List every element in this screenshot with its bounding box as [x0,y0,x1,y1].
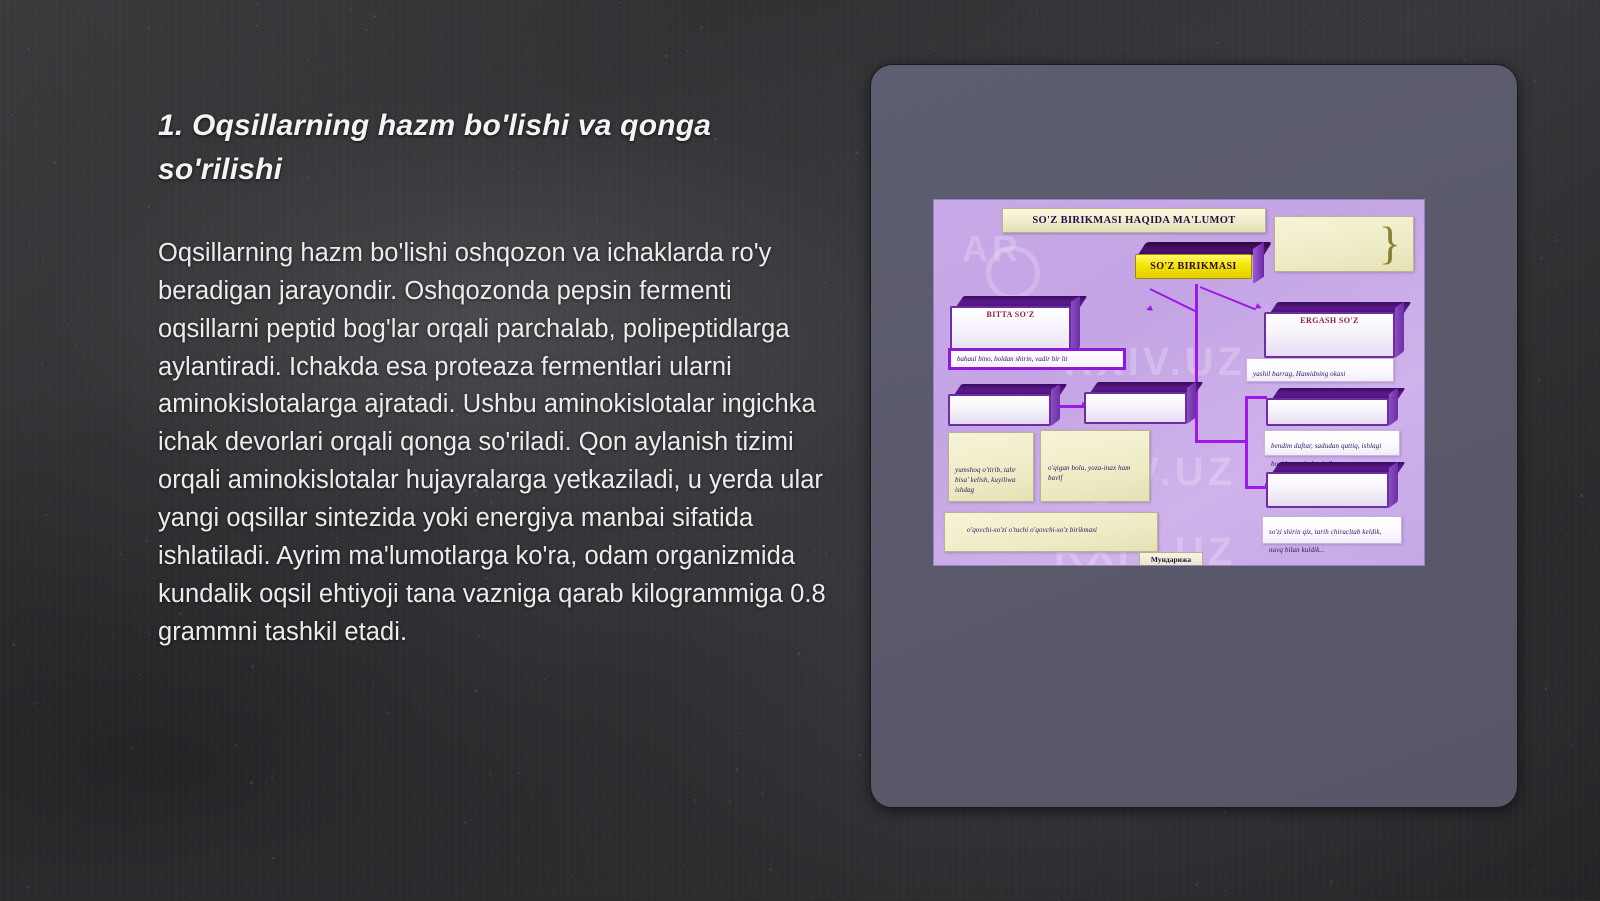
background-speck [130,747,132,749]
background-speck [374,815,375,816]
connector-right-riser [1245,396,1248,442]
background-speck [1556,239,1559,242]
node-right-face: ERGASH SO'Z [1264,312,1395,358]
background-speck [1589,582,1590,583]
background-speck [148,206,150,208]
background-speck [355,79,356,80]
background-speck [42,258,44,260]
background-speck [12,114,14,116]
page-title: 1. Oqsillarning hazm bo'lishi va qonga s… [158,104,830,191]
background-speck [718,867,719,868]
background-speck [75,345,77,347]
background-speck [1538,378,1541,381]
connector-center-to-left [1150,288,1198,313]
background-speck [387,712,389,714]
background-speck [366,29,368,31]
cream-mid: o'qigan bola, yoza-inax ham bavlf [1040,430,1150,502]
connector-right-drop [1245,440,1248,488]
background-speck [694,799,697,802]
background-speck [113,636,115,638]
background-speck [726,846,727,847]
background-speck [29,242,30,243]
note-right-1-text: yashil barrag, Hamidning okasi [1253,370,1345,378]
node-left[interactable]: BITTA SO'Z [950,296,1080,354]
background-speck [737,732,740,735]
background-speck [856,151,859,154]
connector-right-top-stub [1245,396,1267,399]
background-speck [1310,49,1311,50]
background-speck [438,708,439,709]
background-speck [1463,853,1465,855]
background-speck [488,70,490,72]
background-speck [1533,870,1535,872]
background-speck [368,23,369,24]
background-speck [306,58,308,60]
background-speck [36,122,38,124]
background-speck [70,142,71,143]
background-speck [1566,535,1568,537]
background-speck [437,773,439,775]
background-speck [633,33,634,34]
background-speck [835,499,836,500]
cream-bottom-text: o'qovchi-so'zi o'tuchi o'qovchi-so'z bir… [967,525,1149,535]
background-speck [26,886,29,889]
background-speck [798,652,801,655]
node-center-face: SO'Z BIRIKMASI [1135,254,1252,279]
background-speck [808,897,809,898]
background-speck [855,158,857,160]
node-center-side [1253,242,1264,284]
background-speck [518,772,521,775]
background-speck [1424,60,1425,61]
background-speck [1,826,2,827]
background-speck [1564,668,1566,670]
background-speck [1540,257,1543,260]
background-speck [1544,247,1546,249]
background-speck [27,48,30,51]
node-right-mid-face [1266,398,1389,426]
background-speck [114,561,116,563]
node-left-label: BITTA SO'Z [986,311,1034,320]
background-speck [545,838,546,839]
background-speck [273,845,274,846]
background-speck [145,540,147,542]
background-speck [152,403,154,405]
text-column: 1. Oqsillarning hazm bo'lishi va qonga s… [158,104,830,651]
background-speck [107,627,109,629]
background-speck [379,52,380,53]
background-speck [1330,880,1333,883]
background-speck [135,796,136,797]
background-speck [729,800,731,802]
node-right-bottom-face [1266,472,1389,508]
background-speck [1556,365,1557,366]
background-speck [1363,18,1365,20]
background-speck [68,149,69,150]
background-speck [33,702,36,705]
background-speck [1534,80,1536,82]
violet-example-text: bahaul bino, boldan shirin, vadir bir li… [957,355,1067,363]
node-right-bottom[interactable] [1266,462,1398,508]
background-speck [67,324,70,327]
background-speck [1527,371,1528,372]
cream-left: yumshoq o'tirib, tahr bisa' kelish, kuyi… [948,432,1034,502]
background-speck [758,807,760,809]
background-speck [235,744,238,747]
background-speck [148,27,150,29]
node-right-mid-side [1389,387,1398,426]
background-speck [68,458,69,459]
watermark-ring-1 [986,246,1040,300]
note-right-2: bendim daftar, sadudan qattiq, ishlagi b… [1264,430,1400,456]
background-speck [1569,277,1570,278]
background-speck [1223,811,1225,813]
diagram-banner: SO'Z BIRIKMASI HAQIDA MA'LUMOT [1002,208,1266,233]
background-speck [686,50,689,53]
background-speck [53,161,56,164]
arrow-right [1255,303,1263,311]
background-speck [1468,837,1470,839]
background-speck [1568,5,1570,7]
background-speck [625,871,626,872]
background-speck [511,26,513,28]
node-left-face: BITTA SO'Z [950,306,1071,354]
background-speck [271,776,273,778]
background-speck [101,165,102,166]
background-speck [927,47,929,49]
cream-mid-text: o'qigan bola, yoza-inax ham bavlf [1048,463,1143,483]
background-speck [365,29,366,30]
background-speck [272,857,274,859]
background-speck [761,792,763,794]
background-speck [1141,20,1143,22]
background-speck [543,678,546,681]
background-speck [842,319,844,321]
background-speck [683,864,685,866]
background-speck [256,25,258,27]
small-box-2-side [1187,381,1196,424]
background-speck [257,3,259,5]
background-speck [53,5,55,7]
connector-center-horizontal [1195,440,1247,443]
background-speck [438,810,439,811]
note-right-1: yashil barrag, Hamidning okasi [1246,358,1394,382]
node-right-bottom-side [1389,461,1398,508]
small-box-1-side [1051,383,1060,426]
cream-bottom: o'qovchi-so'zi o'tuchi o'qovchi-so'z bir… [944,512,1158,552]
connector-right-bottom-stub [1245,486,1267,489]
arrow-left [1145,305,1153,313]
background-speck [619,1,622,4]
background-speck [251,665,254,668]
node-right-side [1395,301,1404,358]
background-speck [830,297,831,298]
background-speck [148,633,151,636]
background-speck [665,55,668,58]
note-right-3-text: so'zi shirin qiz, tarih chiracltab keldi… [1269,528,1381,554]
background-speck [724,48,725,49]
image-card[interactable]: AR RXIV.UZ RXIV.UZ RXIV.UZ SO'Z BIRIKMAS… [870,64,1518,808]
node-right-label: ERGASH SO'Z [1300,317,1358,326]
connector-small-boxes [1060,405,1084,408]
background-speck [285,811,287,813]
background-speck [357,58,358,59]
background-speck [284,727,286,729]
background-speck [349,8,351,10]
background-speck [1224,891,1226,893]
caption-chip[interactable]: Мундарижа [1139,552,1203,566]
background-speck [858,754,861,757]
background-speck [1580,494,1583,497]
background-speck [1465,59,1467,61]
background-speck [642,43,643,44]
background-speck [474,689,477,692]
background-speck [94,383,96,385]
background-speck [736,768,739,771]
background-speck [841,444,842,445]
background-speck [1304,24,1305,25]
background-speck [1545,687,1547,689]
background-speck [74,207,76,209]
background-speck [12,643,15,646]
watermark-arxiv-1: AR [962,228,1022,270]
background-speck [736,843,738,845]
small-box-1-face [948,394,1051,426]
background-speck [38,105,39,106]
background-speck [576,695,578,697]
note-right-3: so'zi shirin qiz, tarih chiracltab keldi… [1262,516,1402,544]
background-speck [308,806,309,807]
background-speck [250,781,253,784]
node-center-label: SO'Z BIRIKMASI [1150,261,1236,272]
connector-center-to-right [1200,286,1256,310]
background-speck [1166,852,1167,853]
background-speck [437,5,438,6]
background-speck [1549,428,1552,431]
background-speck [769,868,772,871]
background-speck [45,514,47,516]
cream-left-text: yumshoq o'tirib, tahr bisa' kelish, kuyi… [955,465,1028,495]
background-speck [1527,375,1528,376]
brace-icon: } [1379,226,1401,263]
violet-example-card: bahaul bino, boldan shirin, vadir bir li… [948,348,1126,370]
background-speck [59,68,60,69]
background-speck [373,15,376,18]
background-speck [57,4,59,6]
background-speck [563,867,565,869]
small-box-1[interactable] [948,384,1060,426]
background-speck [282,55,284,57]
body-paragraph: Oqsillarning hazm bo'lishi oshqozon va i… [158,235,830,651]
node-right-mid[interactable] [1266,388,1398,426]
background-speck [1093,818,1095,820]
background-speck [393,33,395,35]
background-speck [571,874,572,875]
background-speck [1479,34,1481,36]
background-speck [41,362,43,364]
background-speck [139,673,141,675]
background-speck [794,667,795,668]
background-speck [17,468,18,469]
small-box-2[interactable] [1084,382,1196,424]
background-speck [700,26,703,29]
background-speck [1216,42,1218,44]
background-speck [982,862,984,864]
background-speck [1572,744,1574,746]
background-speck [119,553,122,556]
small-box-2-face [1084,392,1187,424]
background-speck [1530,234,1532,236]
background-speck [817,819,818,820]
background-speck [28,619,29,620]
background-speck [464,821,467,824]
background-speck [87,633,88,634]
background-speck [658,679,659,680]
background-speck [477,724,478,725]
background-speck [801,39,802,40]
node-right[interactable]: ERGASH SO'Z [1264,302,1404,358]
node-center[interactable]: SO'Z BIRIKMASI [1130,242,1264,284]
background-speck [27,538,28,539]
background-speck [489,774,492,777]
background-speck [1040,857,1042,859]
top-right-panel: } [1274,216,1414,272]
background-speck [850,6,852,8]
background-speck [1036,11,1038,13]
node-left-side [1071,295,1080,354]
background-speck [1399,830,1400,831]
word-combination-diagram: AR RXIV.UZ RXIV.UZ RXIV.UZ SO'Z BIRIKMAS… [933,199,1425,566]
background-speck [1195,883,1197,885]
background-speck [372,684,375,687]
